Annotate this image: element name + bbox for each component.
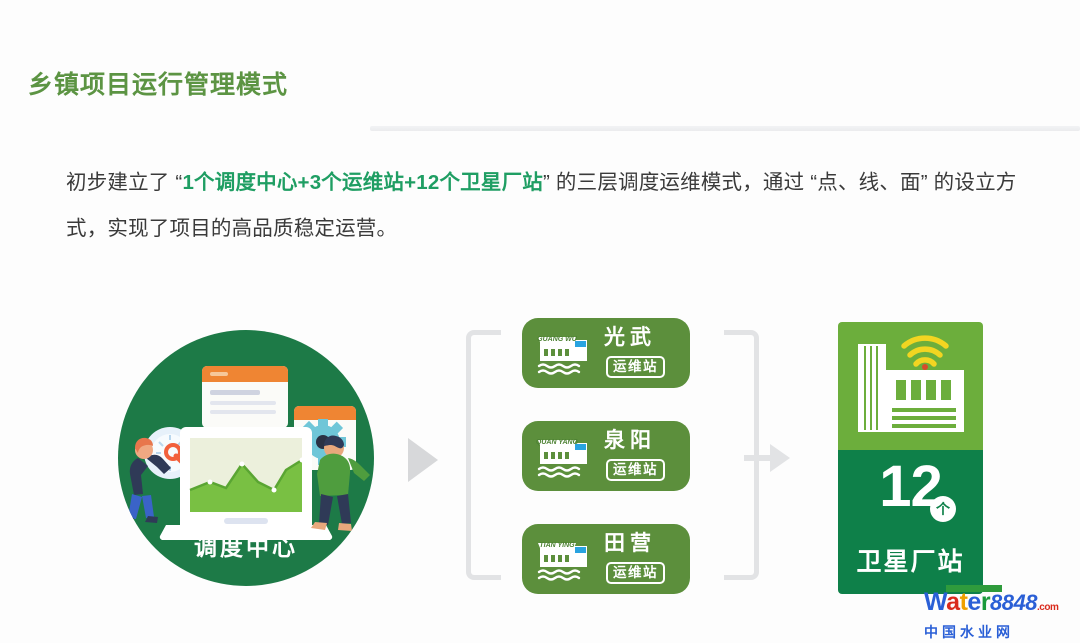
satellite-plant-panel-bottom: 12 个 卫星厂站 — [838, 450, 983, 594]
watermark: Water8848.com 中国水业网 — [924, 589, 1074, 639]
dispatch-center-label: 调度中心 — [118, 528, 374, 562]
station-name: 光武 — [604, 325, 656, 351]
dispatch-center-node[interactable]: 调度中心 — [118, 330, 374, 586]
satellite-plant-panel[interactable]: 12 个 卫星厂站 — [838, 322, 983, 594]
station-name: 田营 — [604, 531, 656, 557]
watermark-letter-e: e — [967, 588, 980, 616]
satellite-plant-panel-top — [838, 322, 983, 450]
station-subtitle: 运维站 — [606, 562, 665, 584]
triangle-arrow-right-icon — [408, 438, 438, 482]
watermark-letter-w: W — [924, 588, 946, 616]
satellite-plant-unit: 个 — [930, 496, 956, 522]
page-title: 乡镇项目运行管理模式 — [28, 70, 288, 100]
water-plant-icon: GUANG WU — [534, 328, 596, 378]
station-pinyin-3: TIAN YING — [539, 542, 575, 549]
body-paragraph: 初步建立了 “1个调度中心+3个运维站+12个卫星厂站” 的三层调度运维模式，通… — [66, 160, 1034, 252]
station-name: 泉阳 — [604, 428, 656, 454]
line-arrow-right-icon — [770, 444, 790, 472]
header-divider — [370, 126, 1080, 131]
water-plant-icon: QUAN YANG — [534, 431, 596, 481]
watermark-wordmark: Water8848.com — [924, 589, 1074, 621]
watermark-domain: .com — [1037, 602, 1058, 613]
process-diagram: 调度中心 GUANG WU — [0, 300, 1080, 630]
watermark-letter-r: r — [981, 588, 990, 616]
watermark-bar — [946, 585, 1002, 592]
station-subtitle: 运维站 — [606, 459, 665, 481]
satellite-plant-label: 卫星厂站 — [838, 542, 983, 578]
station-subtitle: 运维站 — [606, 356, 665, 378]
watermark-number: 8848 — [990, 590, 1037, 615]
satellite-plant-count: 12 — [838, 456, 983, 518]
paragraph-segment-1: 初步建立了 “ — [66, 171, 182, 194]
line-arrow-shaft — [744, 455, 772, 461]
station-card[interactable]: TIAN YING 田营 运维站 — [522, 524, 690, 594]
slide-canvas: 乡镇项目运行管理模式 初步建立了 “1个调度中心+3个运维站+12个卫星厂站” … — [0, 0, 1080, 643]
paragraph-highlight: 1个调度中心+3个运维站+12个卫星厂站 — [182, 171, 543, 194]
water-plant-icon: TIAN YING — [534, 534, 596, 584]
bracket-left-icon — [466, 330, 501, 580]
station-card-list: GUANG WU 光武 运维站 QUAN YANG — [522, 318, 692, 594]
station-pinyin-1: GUANG WU — [537, 336, 578, 343]
smart-factory-wifi-icon — [838, 322, 983, 450]
station-card[interactable]: GUANG WU 光武 运维站 — [522, 318, 690, 388]
watermark-chinese: 中国水业网 — [924, 622, 1074, 642]
station-pinyin-2: QUAN YANG — [536, 439, 579, 446]
watermark-letter-a: a — [946, 588, 959, 616]
station-card[interactable]: QUAN YANG 泉阳 运维站 — [522, 421, 690, 491]
